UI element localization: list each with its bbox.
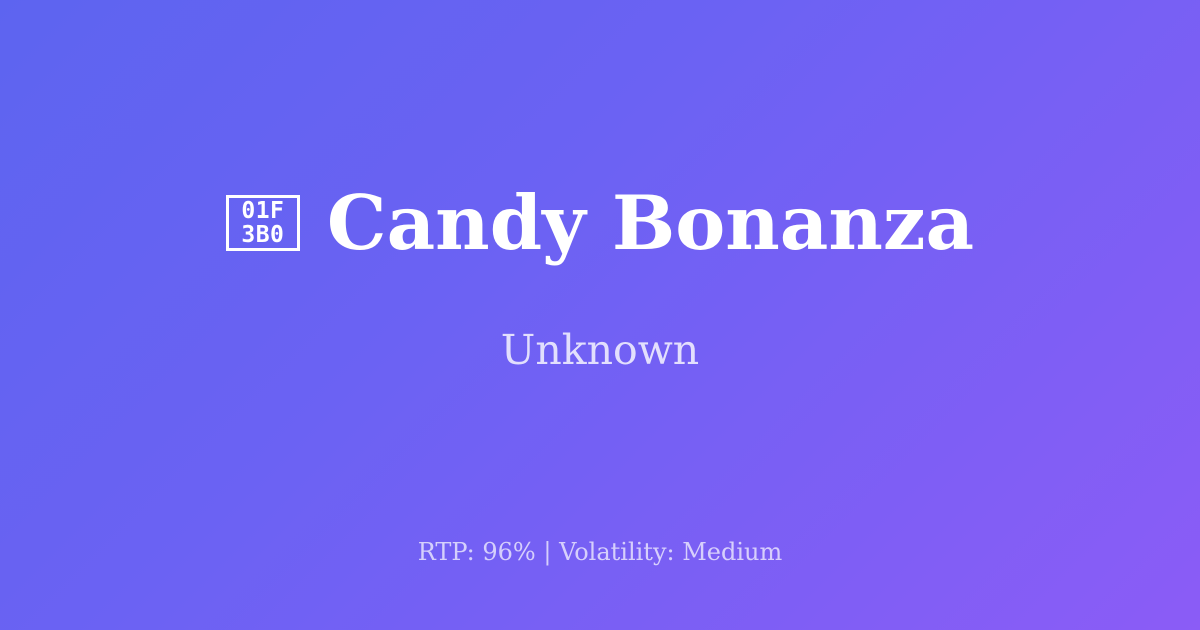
tofu-codepoint-row-1: 01F <box>241 199 284 223</box>
page-title: Candy Bonanza <box>327 183 974 264</box>
og-share-card: 01F 3B0 Candy Bonanza Unknown RTP: 96% |… <box>0 0 1200 630</box>
subtitle: Unknown <box>501 326 699 375</box>
hero-block: 01F 3B0 Candy Bonanza Unknown <box>0 0 1200 630</box>
tofu-codepoint-row-2: 3B0 <box>241 223 284 247</box>
game-meta-footer: RTP: 96% | Volatility: Medium <box>0 538 1200 567</box>
title-row: 01F 3B0 Candy Bonanza <box>226 183 974 264</box>
slot-machine-icon: 01F 3B0 <box>226 195 300 251</box>
